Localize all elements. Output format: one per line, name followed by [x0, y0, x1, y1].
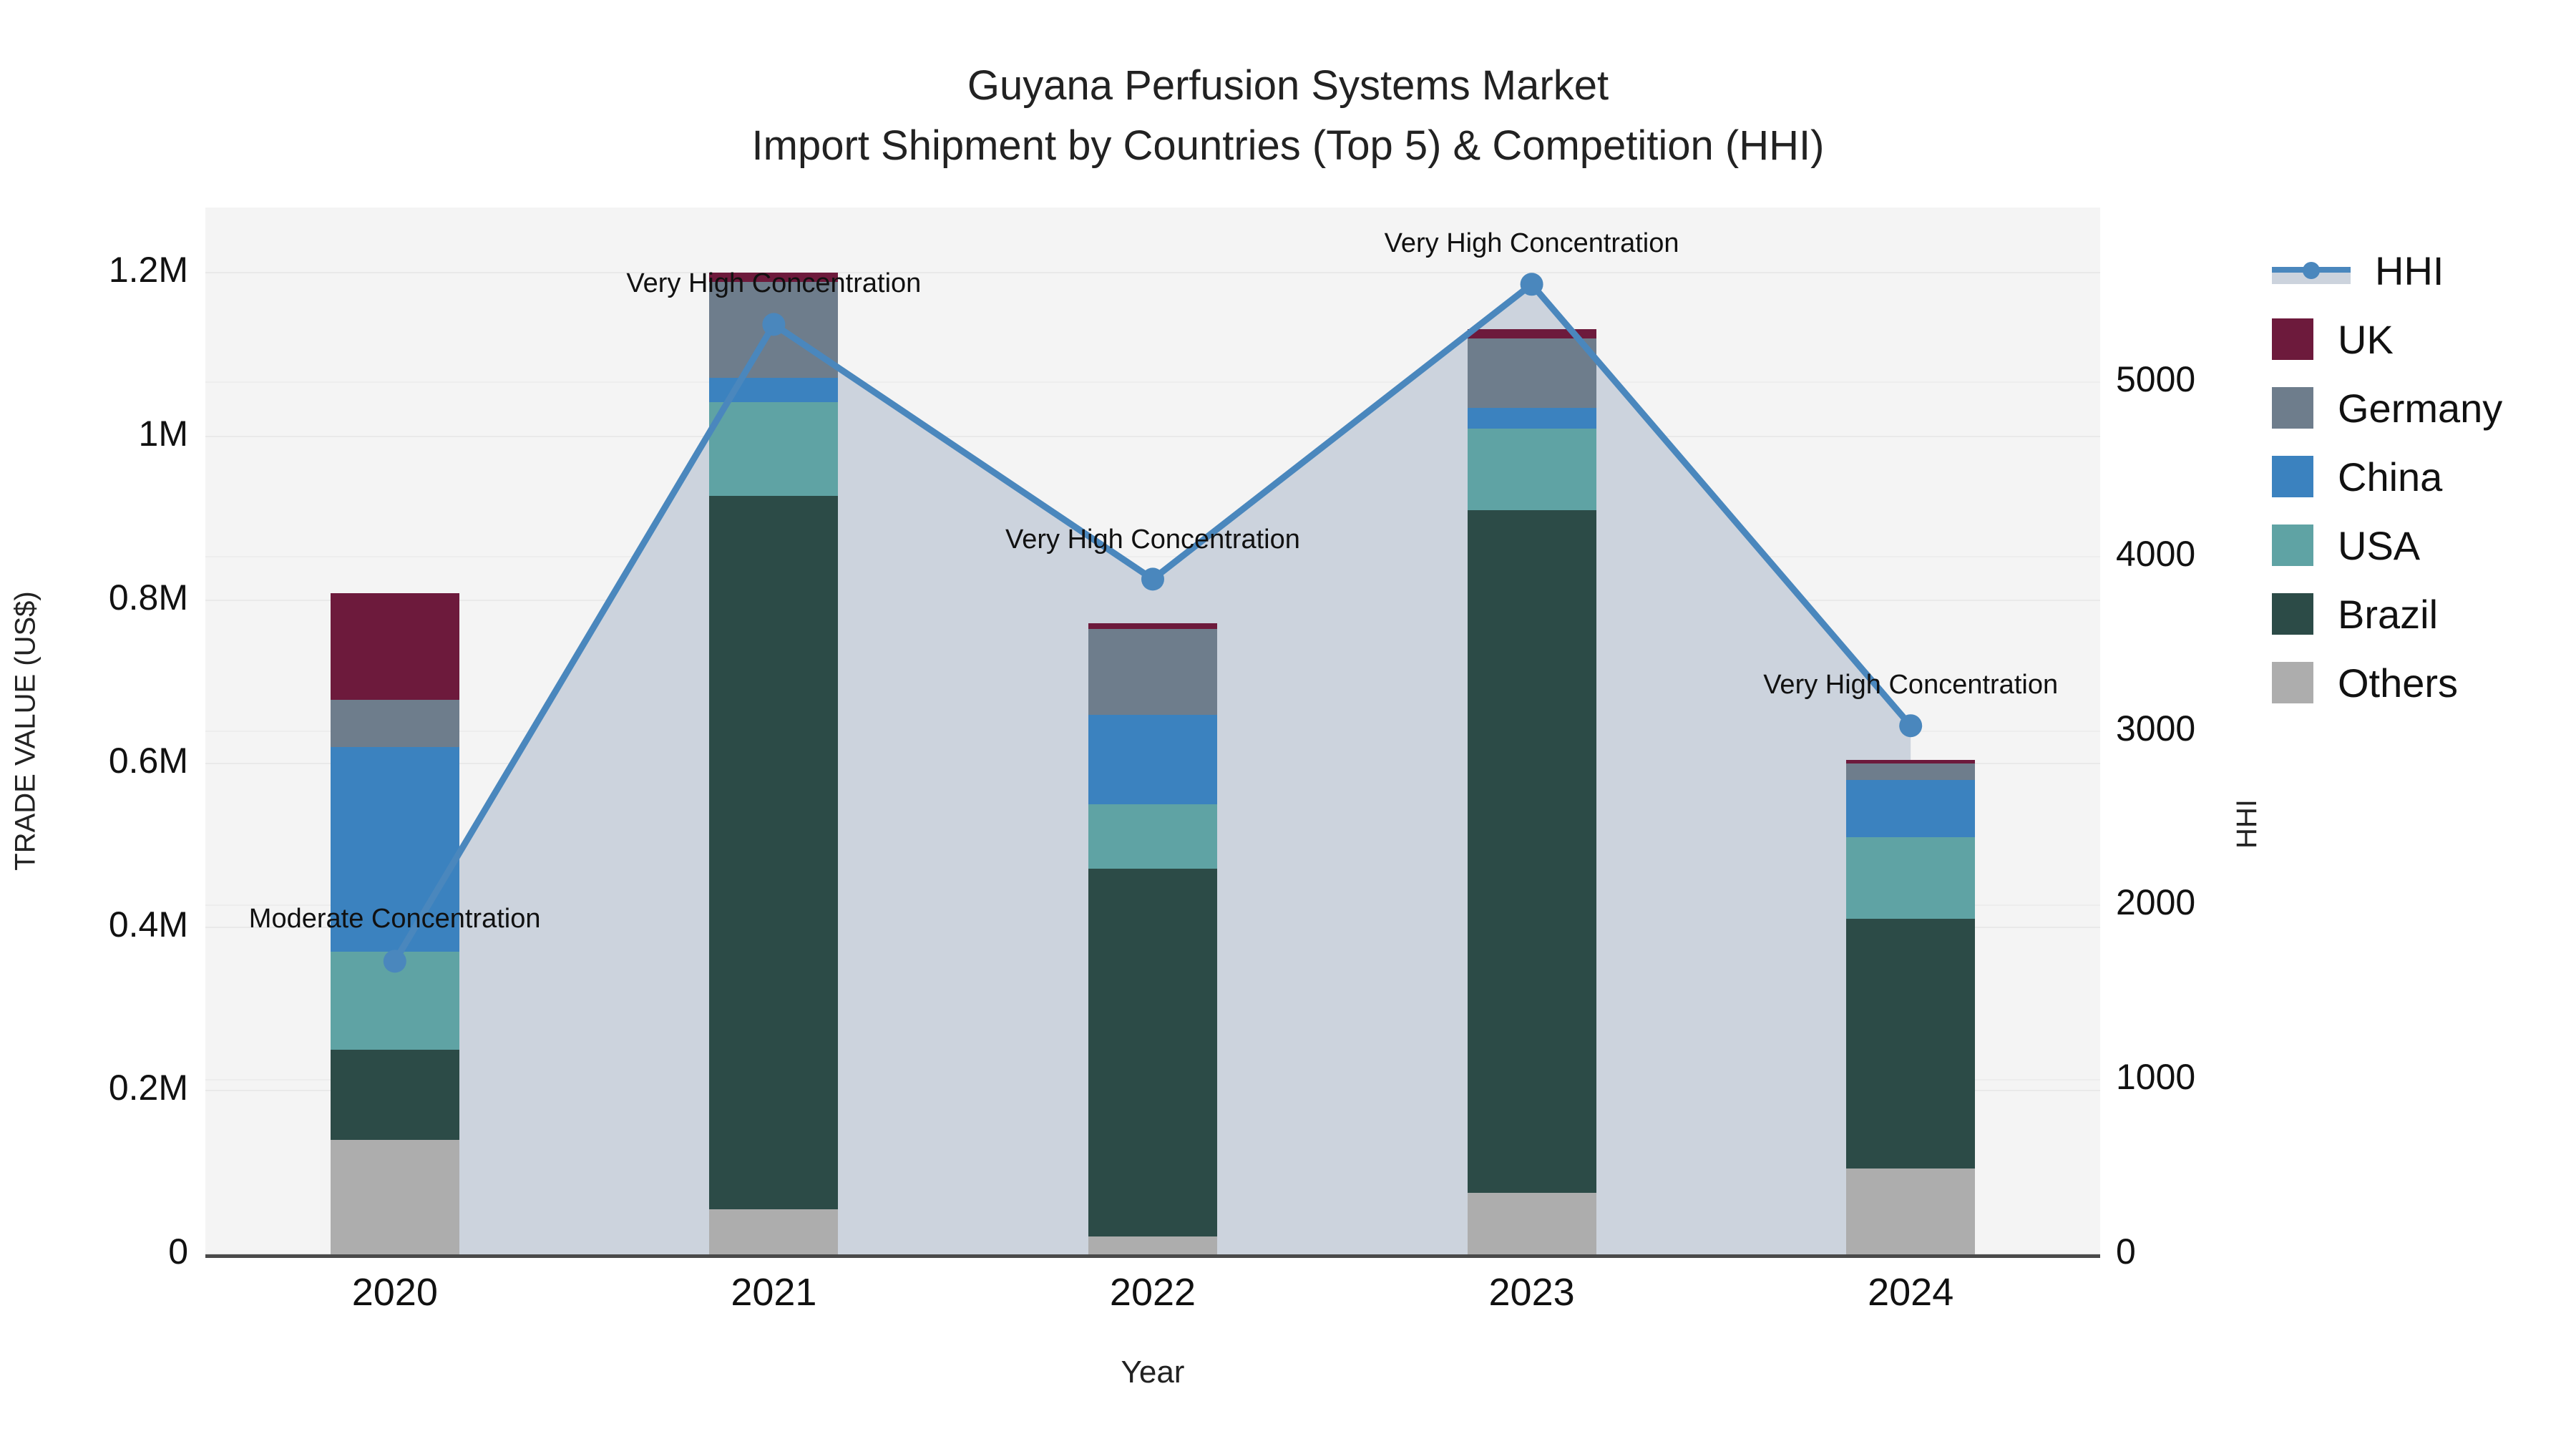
legend-label: Germany — [2338, 385, 2502, 431]
chart-title-line-1: Guyana Perfusion Systems Market — [0, 56, 2576, 116]
x-axis-tick-label: 2023 — [1342, 1270, 1722, 1314]
x-axis-tick-label: 2020 — [205, 1270, 585, 1314]
legend-color-swatch — [2272, 662, 2313, 703]
y-axis-right-tick-label: 5000 — [2116, 358, 2195, 400]
y-axis-right-tick-label: 2000 — [2116, 882, 2195, 923]
y-axis-left-title: TRADE VALUE (US$) — [10, 591, 42, 870]
chart-root: Guyana Perfusion Systems Market Import S… — [0, 0, 2576, 1449]
hhi-marker[interactable] — [1899, 714, 1922, 737]
hhi-line-layer — [205, 208, 2100, 1254]
legend-label: USA — [2338, 522, 2420, 569]
y-axis-right-title: HHI — [2230, 799, 2263, 849]
legend-item-china[interactable]: China — [2272, 442, 2572, 511]
y-axis-left-tick-label: 0.8M — [109, 577, 188, 618]
x-axis-line — [205, 1254, 2100, 1258]
legend-color-swatch — [2272, 318, 2313, 360]
chart-title-line-2: Import Shipment by Countries (Top 5) & C… — [0, 116, 2576, 176]
legend-color-swatch — [2272, 593, 2313, 635]
legend-color-swatch — [2272, 525, 2313, 566]
concentration-annotation: Very High Concentration — [626, 268, 921, 299]
hhi-marker[interactable] — [762, 313, 785, 336]
y-axis-right-tick-label: 0 — [2116, 1231, 2136, 1272]
legend: HHIUKGermanyChinaUSABrazilOthers — [2272, 236, 2572, 717]
legend-item-germany[interactable]: Germany — [2272, 374, 2572, 442]
legend-line-marker — [2303, 262, 2320, 279]
y-axis-right-tick-label: 3000 — [2116, 708, 2195, 749]
y-axis-left-tick-label: 0.2M — [109, 1067, 188, 1108]
y-axis-left-tick-label: 0.4M — [109, 904, 188, 945]
legend-line-swatch — [2272, 250, 2351, 291]
legend-item-others[interactable]: Others — [2272, 648, 2572, 717]
y-axis-right-tick-label: 1000 — [2116, 1056, 2195, 1098]
hhi-marker[interactable] — [384, 950, 406, 972]
hhi-marker[interactable] — [1141, 567, 1164, 590]
concentration-annotation: Very High Concentration — [1005, 525, 1300, 555]
concentration-annotation: Moderate Concentration — [249, 904, 541, 935]
hhi-line — [395, 284, 1911, 961]
legend-item-hhi[interactable]: HHI — [2272, 236, 2572, 305]
y-axis-left-tick-label: 0 — [168, 1231, 188, 1272]
chart-title: Guyana Perfusion Systems Market Import S… — [0, 56, 2576, 176]
x-axis-tick-label: 2024 — [1721, 1270, 2100, 1314]
legend-item-usa[interactable]: USA — [2272, 511, 2572, 580]
legend-label: Brazil — [2338, 591, 2438, 638]
concentration-annotation: Very High Concentration — [1763, 670, 2058, 701]
y-axis-left-tick-label: 1.2M — [109, 249, 188, 291]
y-axis-left-tick-label: 1M — [139, 413, 188, 454]
legend-label: UK — [2338, 316, 2394, 363]
y-axis-left-tick-label: 0.6M — [109, 740, 188, 781]
legend-item-brazil[interactable]: Brazil — [2272, 580, 2572, 648]
legend-color-swatch — [2272, 387, 2313, 429]
legend-label: HHI — [2375, 248, 2444, 294]
concentration-annotation: Very High Concentration — [1385, 228, 1679, 259]
x-axis-title: Year — [205, 1355, 2100, 1390]
legend-item-uk[interactable]: UK — [2272, 305, 2572, 374]
x-axis-tick-label: 2022 — [963, 1270, 1342, 1314]
x-axis-tick-label: 2021 — [585, 1270, 964, 1314]
y-axis-right-tick-label: 4000 — [2116, 533, 2195, 575]
legend-label: Others — [2338, 660, 2458, 706]
plot-area: Moderate ConcentrationVery High Concentr… — [205, 208, 2100, 1254]
hhi-marker[interactable] — [1521, 273, 1543, 296]
legend-label: China — [2338, 454, 2442, 500]
legend-color-swatch — [2272, 456, 2313, 497]
